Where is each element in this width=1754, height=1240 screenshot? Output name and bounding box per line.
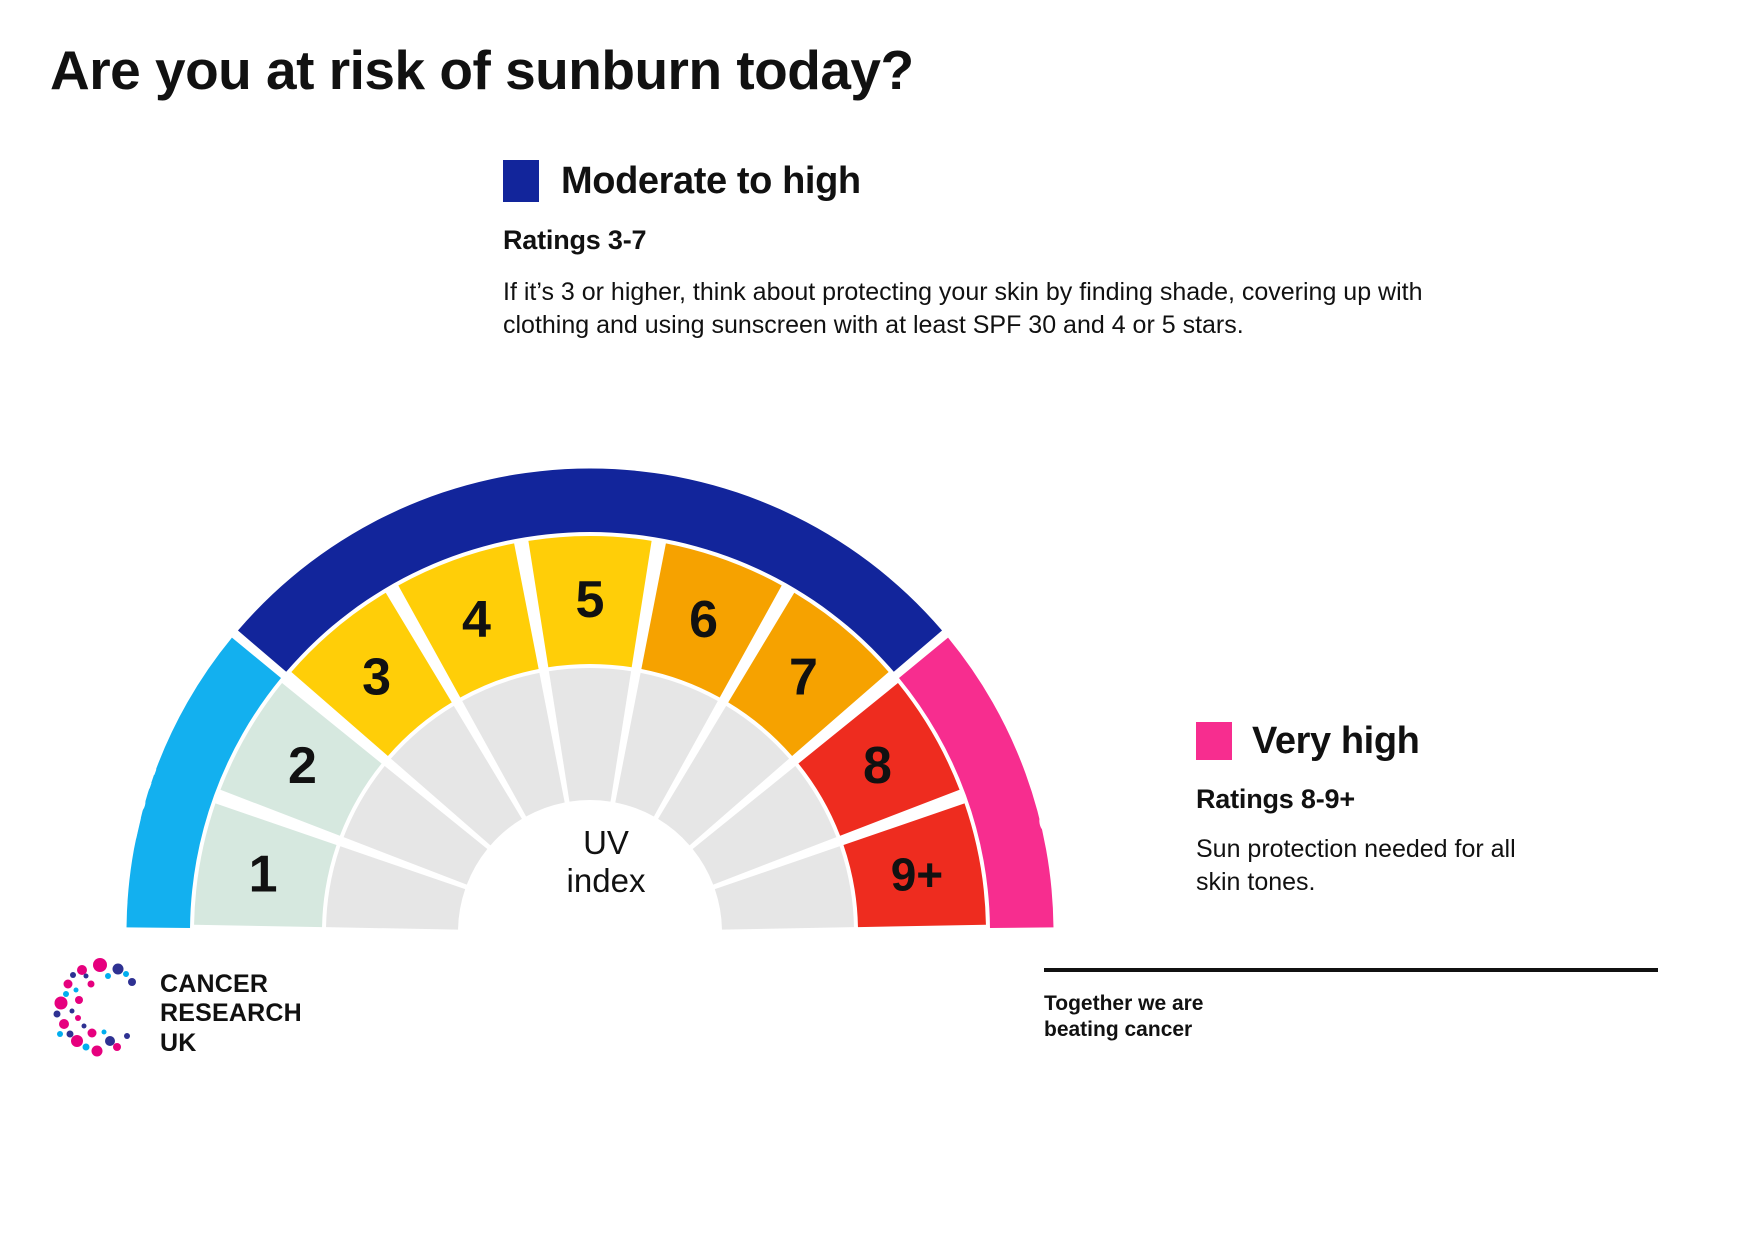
cancer-research-uk-logo: CANCER RESEARCH UK <box>48 952 348 1062</box>
dial-segment-label-1: 1 <box>249 845 278 903</box>
dial-segment-label-6: 6 <box>689 591 718 649</box>
legend-swatch-veryhigh-icon <box>1196 722 1232 760</box>
legend-moderate-body: If it’s 3 or higher, think about protect… <box>503 276 1503 342</box>
legend-veryhigh-header: Very high <box>1196 722 1526 760</box>
dial-segment-label-3: 3 <box>362 649 391 707</box>
uv-index-dial: 123456789+ Low Moderate to high Very hig… <box>40 372 1140 932</box>
center-line-1: UV <box>496 824 716 862</box>
strapline-line-2: beating cancer <box>1044 1017 1664 1043</box>
dial-segment-label-4: 4 <box>462 591 491 649</box>
dial-center-label: UV index <box>496 824 716 901</box>
page-title: Are you at risk of sunburn today? <box>50 42 914 100</box>
logo-line-1: CANCER <box>160 970 302 999</box>
center-line-2: index <box>496 862 716 900</box>
dial-segment-label-9+: 9+ <box>891 848 943 900</box>
legend-veryhigh-body: Sun protection needed for all skin tones… <box>1196 833 1516 898</box>
logo-line-3: UK <box>160 1029 302 1058</box>
strapline-text: Together we are beating cancer <box>1044 991 1664 1044</box>
dial-segment-label-2: 2 <box>288 737 317 795</box>
logo-line-2: RESEARCH <box>160 999 302 1028</box>
legend-veryhigh-title: Very high <box>1252 722 1419 760</box>
legend-swatch-moderate-icon <box>503 160 539 202</box>
dial-segment-label-5: 5 <box>576 571 605 629</box>
legend-moderate-ratings: Ratings 3-7 <box>503 225 1513 256</box>
legend-very-high: Very high Ratings 8-9+ Sun protection ne… <box>1196 722 1526 898</box>
logo-wordmark: CANCER RESEARCH UK <box>160 970 302 1058</box>
dial-segment-label-8: 8 <box>863 737 892 795</box>
legend-moderate-to-high: Moderate to high Ratings 3-7 If it’s 3 o… <box>503 160 1513 342</box>
legend-veryhigh-ratings: Ratings 8-9+ <box>1196 784 1526 815</box>
infographic-page: Are you at risk of sunburn today? Modera… <box>0 0 1754 1240</box>
strapline-line-1: Together we are <box>1044 991 1664 1017</box>
strapline-divider <box>1044 968 1658 972</box>
legend-moderate-title: Moderate to high <box>561 162 861 200</box>
legend-moderate-header: Moderate to high <box>503 160 1513 202</box>
crukdots-logo-icon <box>48 956 152 1060</box>
dial-segment-label-7: 7 <box>789 649 818 707</box>
dial-inner-segment-5 <box>549 668 631 802</box>
strapline-block: Together we are beating cancer <box>1044 968 1664 1044</box>
